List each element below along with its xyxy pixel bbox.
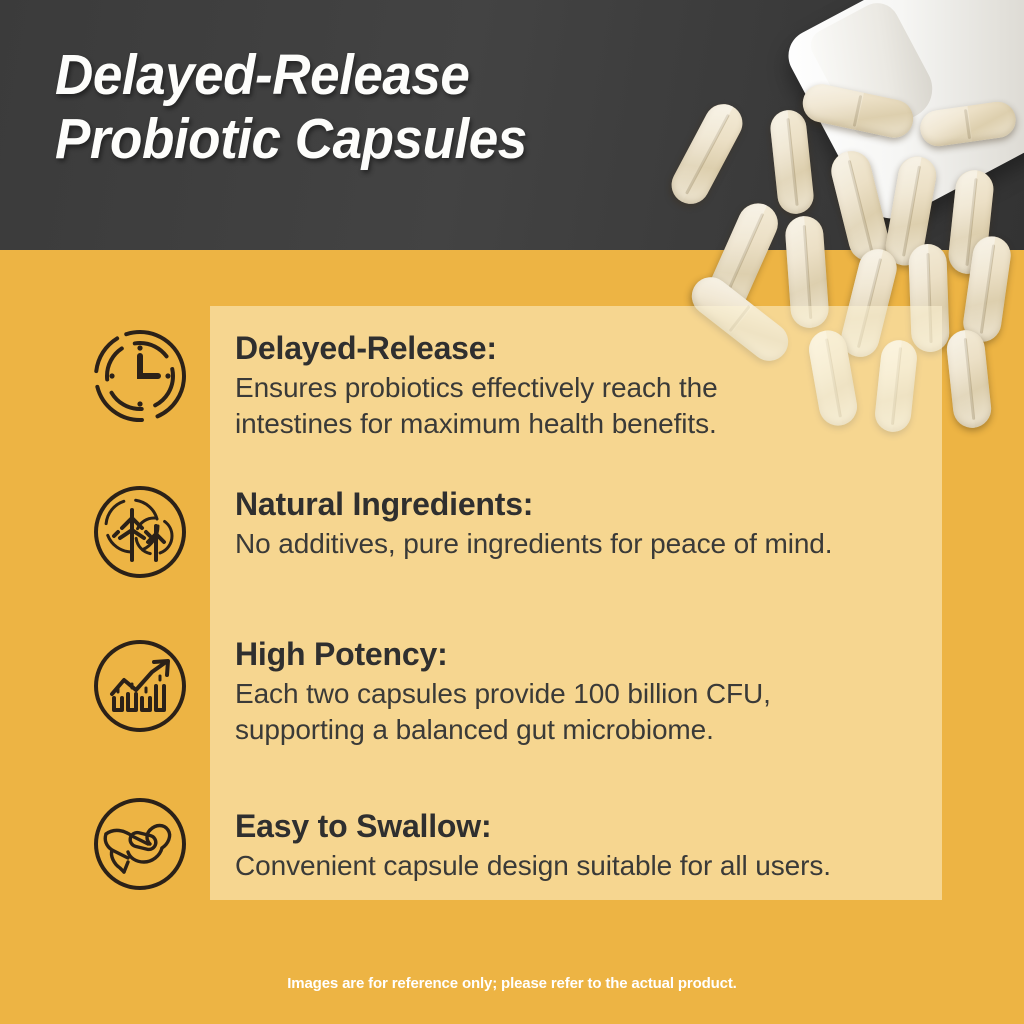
disclaimer-text: Images are for reference only; please re… (0, 975, 1024, 992)
feature-body: No additives, pure ingredients for peace… (235, 526, 935, 562)
clock-icon (90, 326, 190, 426)
feature-text: Natural Ingredients: No additives, pure … (235, 486, 935, 562)
page-title: Delayed-Release Probiotic Capsules (55, 44, 650, 172)
capsule (961, 234, 1013, 344)
feature-title: Delayed-Release: (235, 330, 935, 368)
feature-title: High Potency: (235, 636, 935, 674)
trees-icon (90, 482, 190, 582)
header-band: Delayed-Release Probiotic Capsules (0, 0, 1024, 250)
feature-text: High Potency: Each two capsules provide … (235, 636, 935, 747)
growth-chart-icon (90, 636, 190, 736)
capsule (945, 328, 993, 429)
feature-body: Each two capsules provide 100 billion CF… (235, 676, 935, 748)
infographic-canvas: Delayed-Release Probiotic Capsules (0, 0, 1024, 1024)
hand-holding-capsule-icon (90, 794, 190, 894)
feature-text: Delayed-Release: Ensures probiotics effe… (235, 330, 935, 441)
feature-title: Easy to Swallow: (235, 808, 935, 846)
feature-body: Convenient capsule design suitable for a… (235, 848, 935, 884)
feature-text: Easy to Swallow: Convenient capsule desi… (235, 808, 935, 884)
feature-title: Natural Ingredients: (235, 486, 935, 524)
feature-body: Ensures probiotics effectively reach the… (235, 370, 935, 442)
